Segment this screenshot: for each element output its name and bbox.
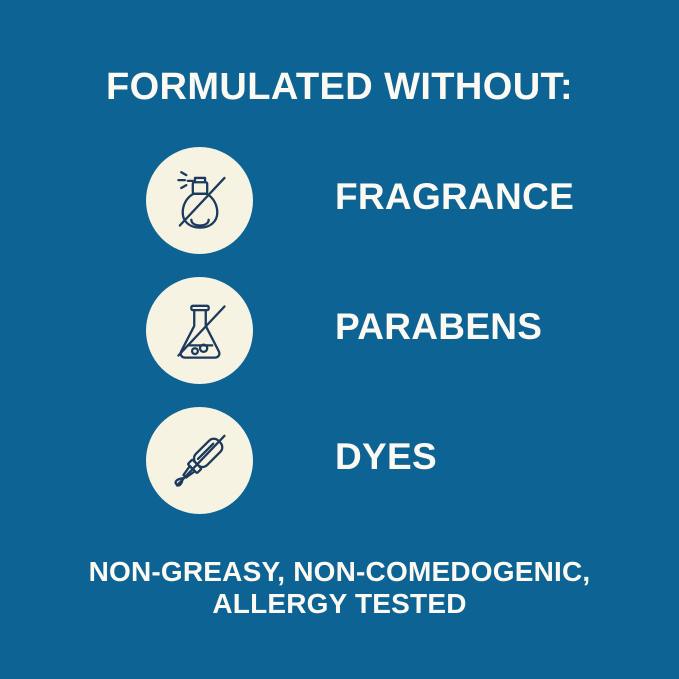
list-item: DYES [0,407,679,537]
badge-dyes [146,407,253,514]
page-title: FORMULATED WITHOUT: [0,68,679,106]
list-item-label: PARABENS [335,308,542,345]
formulated-without-poster: FORMULATED WITHOUT: [0,0,679,679]
footer-line-2: ALLERGY TESTED [0,588,679,620]
list-item: PARABENS [0,277,679,407]
no-chemical-flask-icon [164,295,236,367]
footer-claims: NON-GREASY, NON-COMEDOGENIC, ALLERGY TES… [0,556,679,621]
badge-parabens [146,277,253,384]
claims-list: FRAGRANCE [0,147,679,537]
list-item: FRAGRANCE [0,147,679,277]
strike-through-line [176,435,224,485]
badge-fragrance [146,147,253,254]
list-item-label: FRAGRANCE [335,178,574,215]
list-item-label: DYES [335,438,437,475]
footer-line-1: NON-GREASY, NON-COMEDOGENIC, [0,556,679,588]
no-fragrance-bottle-icon [164,165,236,237]
no-dropper-icon [164,425,236,497]
